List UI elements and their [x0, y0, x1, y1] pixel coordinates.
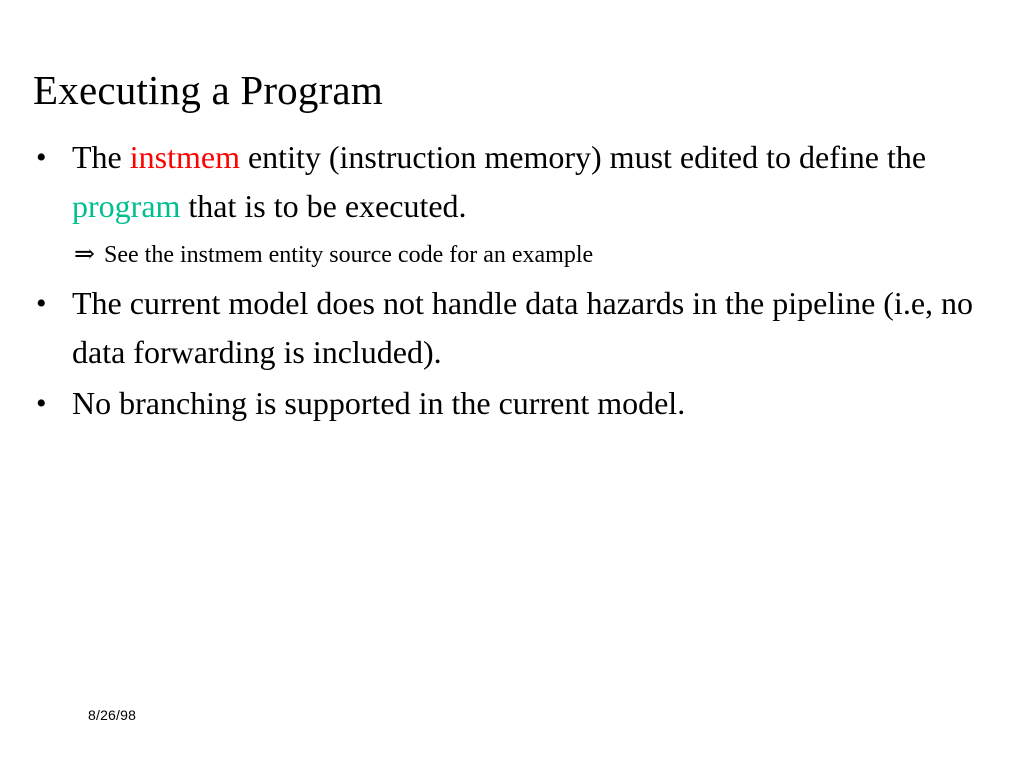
bullet-1-segment-plain-1: The	[72, 139, 130, 175]
bullet-marker-icon: •	[30, 379, 72, 428]
sub-bullet-item-1-text: See the instmem entity source code for a…	[104, 235, 990, 275]
bullet-item-1: • The instmem entity (instruction memory…	[30, 133, 990, 231]
presentation-slide: Executing a Program • The instmem entity…	[0, 0, 1024, 768]
double-arrow-right-icon: ⇒	[74, 235, 104, 275]
page-title: Executing a Program	[33, 65, 963, 115]
slide-body: • The instmem entity (instruction memory…	[30, 133, 990, 428]
bullet-marker-icon: •	[30, 133, 72, 182]
bullet-marker-icon: •	[30, 279, 72, 328]
keyword-instmem: instmem	[130, 139, 240, 175]
footer-date: 8/26/98	[88, 706, 136, 724]
bullet-item-3: • No branching is supported in the curre…	[30, 379, 990, 428]
bullet-item-3-text: No branching is supported in the current…	[72, 379, 990, 428]
bullet-item-1-text: The instmem entity (instruction memory) …	[72, 133, 990, 231]
sub-bullet-item-1: ⇒ See the instmem entity source code for…	[30, 235, 990, 275]
bullet-item-2: • The current model does not handle data…	[30, 279, 990, 377]
bullet-1-segment-plain-2: entity (instruction memory) must edited …	[240, 139, 926, 175]
bullet-1-segment-plain-3: that is to be executed.	[180, 188, 466, 224]
keyword-program: program	[72, 188, 180, 224]
bullet-item-2-text: The current model does not handle data h…	[72, 279, 990, 377]
